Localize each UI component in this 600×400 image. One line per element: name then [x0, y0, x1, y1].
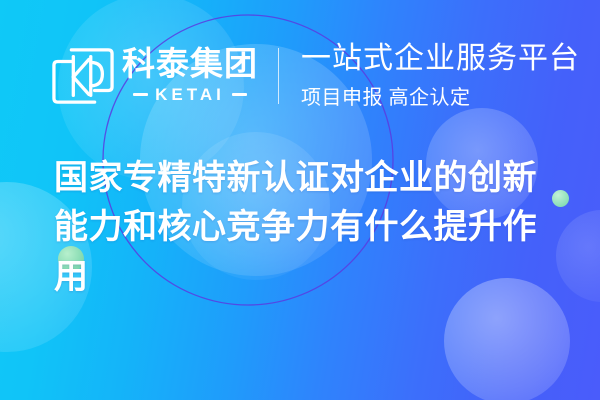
logo-company-name-cn: 科泰集团 — [122, 47, 258, 82]
logo-company-name-en-row: KETAI — [122, 85, 258, 105]
logo-rule-left — [133, 93, 148, 96]
tagline-main: 一站式企业服务平台 — [301, 42, 580, 77]
decorative-dot-green-right — [552, 190, 569, 207]
header-divider — [278, 48, 279, 104]
banner-header: 科泰集团 KETAI 一站式企业服务平台 项目申报 高企认定 — [52, 38, 580, 114]
logo-wordmark: 科泰集团 KETAI — [122, 47, 258, 105]
tagline-sub: 项目申报 高企认定 — [301, 81, 580, 110]
banner-headline: 国家专精特新认证对企业的创新能力和核心竞争力有什么提升作用 — [54, 154, 554, 302]
promo-banner: 科泰集团 KETAI 一站式企业服务平台 项目申报 高企认定 国家专精特新认证对… — [0, 0, 600, 400]
logo-company-name-en: KETAI — [155, 85, 225, 105]
ketai-logo-icon — [52, 45, 114, 107]
tagline-block: 一站式企业服务平台 项目申报 高企认定 — [301, 42, 580, 111]
decorative-circle-right-edge — [556, 210, 600, 302]
logo-rule-right — [232, 93, 247, 96]
